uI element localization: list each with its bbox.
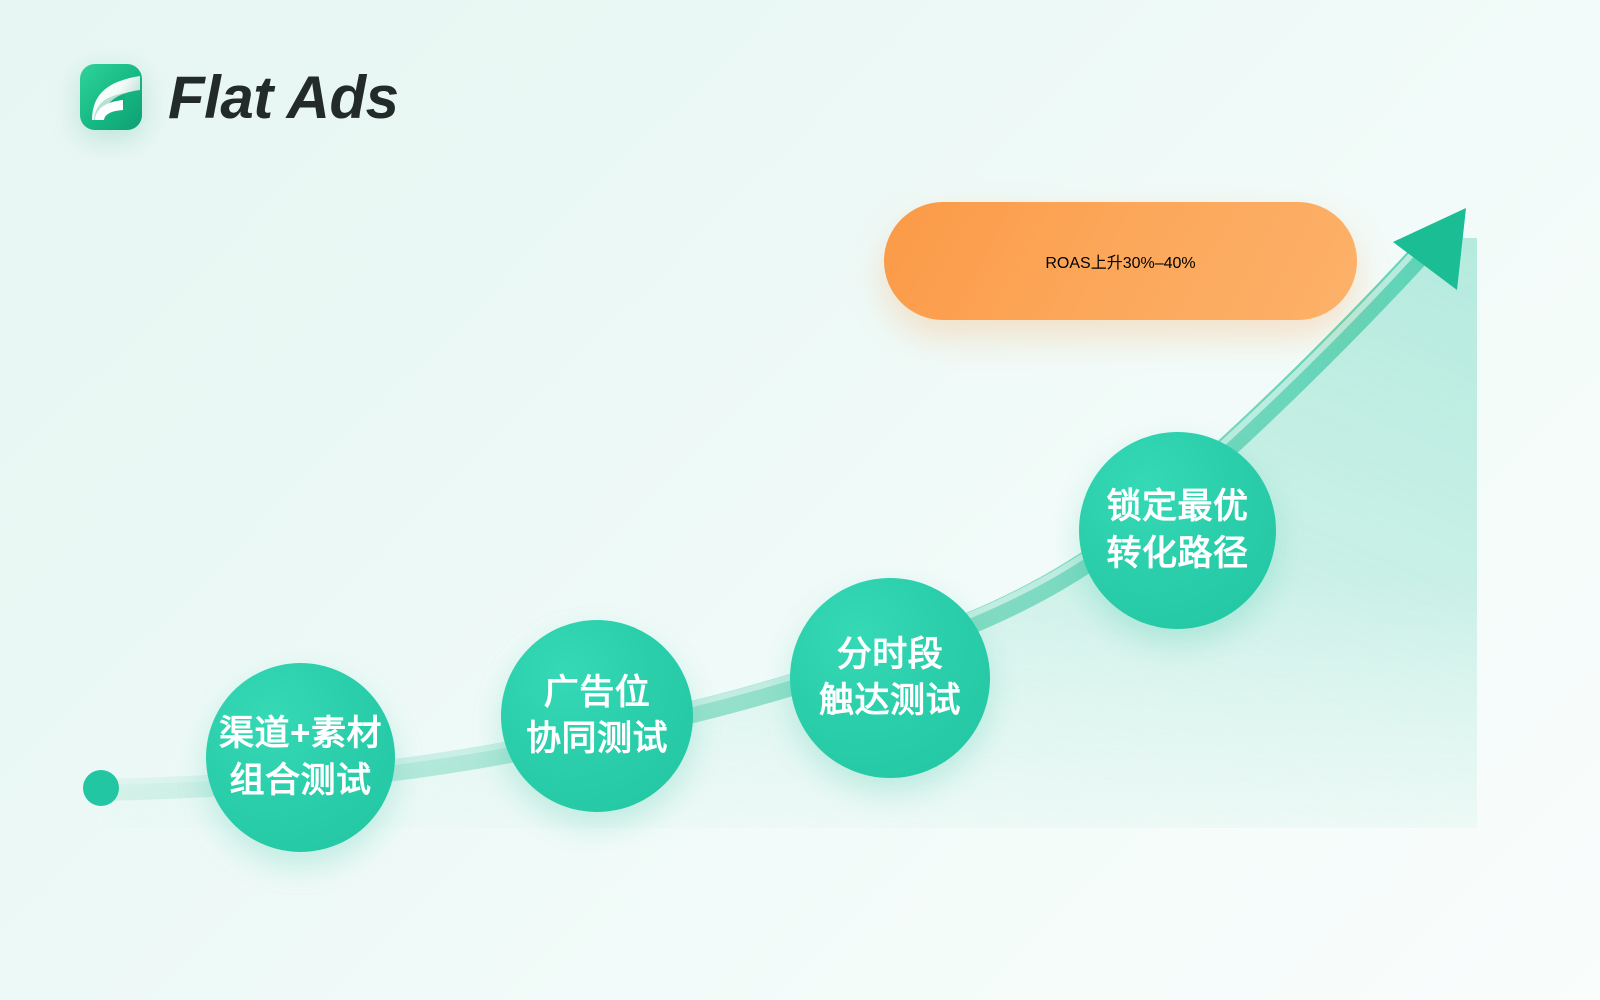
step-node-3-line1: 分时段 — [837, 632, 944, 678]
step-node-4-line2: 转化路径 — [1106, 531, 1248, 577]
infographic-canvas: Flat Ads ROAS上升30%–40% 渠道+素材 组合测试 广告位 协同… — [0, 0, 1600, 1000]
flatads-leaf-logo-icon — [78, 62, 150, 134]
growth-curve-chart — [0, 0, 1600, 1000]
brand-lockup: Flat Ads — [78, 62, 398, 134]
step-node-1-line1: 渠道+素材 — [219, 711, 382, 757]
brand-name: Flat Ads — [168, 68, 398, 128]
roas-badge-label: ROAS上升30%–40% — [1045, 249, 1195, 273]
roas-badge: ROAS上升30%–40% — [884, 202, 1357, 320]
step-node-4[interactable]: 锁定最优 转化路径 — [1079, 432, 1276, 629]
step-node-2-line2: 协同测试 — [526, 716, 668, 762]
step-node-1-line2: 组合测试 — [229, 758, 371, 804]
step-node-4-line1: 锁定最优 — [1106, 484, 1248, 530]
start-dot — [83, 770, 119, 806]
step-node-3[interactable]: 分时段 触达测试 — [790, 578, 990, 778]
step-node-2[interactable]: 广告位 协同测试 — [501, 620, 693, 812]
step-node-1[interactable]: 渠道+素材 组合测试 — [206, 663, 395, 852]
step-node-3-line2: 触达测试 — [819, 678, 961, 724]
step-node-2-line1: 广告位 — [544, 670, 651, 716]
